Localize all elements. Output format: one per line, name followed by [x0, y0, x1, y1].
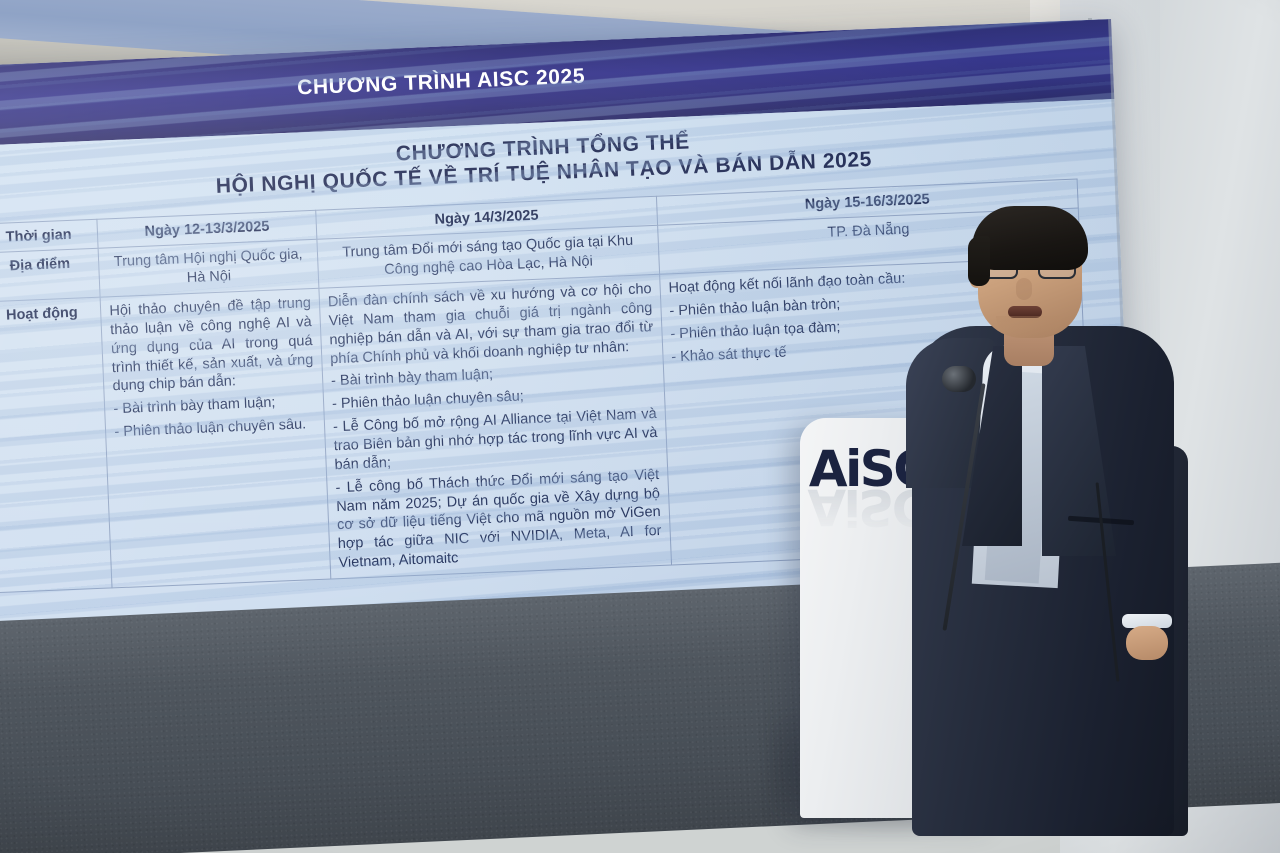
activity-bullet: - Phiên thảo luận chuyên sâu. — [114, 415, 316, 442]
slide-header-label: CHƯƠNG TRÌNH AISC 2025 — [297, 65, 586, 101]
microphone-icon — [942, 366, 976, 392]
row-label-place: Địa điểm — [0, 249, 100, 302]
speaker-nose — [1016, 278, 1032, 300]
activity-lead-col-2: Diễn đàn chính sách về xu hướng và cơ hộ… — [328, 280, 655, 369]
conference-photo-scene: CHƯƠNG TRÌNH AISC 2025 CHƯƠNG TRÌNH TỔNG… — [0, 0, 1280, 853]
row-label-activity: Hoạt động — [0, 297, 112, 592]
speaker-person — [900, 196, 1200, 836]
speaker-sideburn — [968, 236, 990, 286]
activity-bullet: - Lễ Công bố mở rộng AI Alliance tại Việ… — [333, 405, 659, 475]
place-col-1: Trung tâm Hội nghị Quốc gia, Hà Nội — [98, 240, 318, 298]
speaker-hand — [1126, 626, 1168, 660]
activity-col-1: Hội thảo chuyên đề tập trung thảo luận v… — [100, 288, 330, 588]
activity-col-2: Diễn đàn chính sách về xu hướng và cơ hộ… — [319, 274, 672, 579]
activity-lead-col-1: Hội thảo chuyên đề tập trung thảo luận v… — [109, 294, 314, 396]
activity-bullet: - Lễ công bố Thách thức Đổi mới sáng tạo… — [335, 466, 663, 573]
activity-bullet: - Bài trình bày tham luận; — [113, 392, 315, 419]
